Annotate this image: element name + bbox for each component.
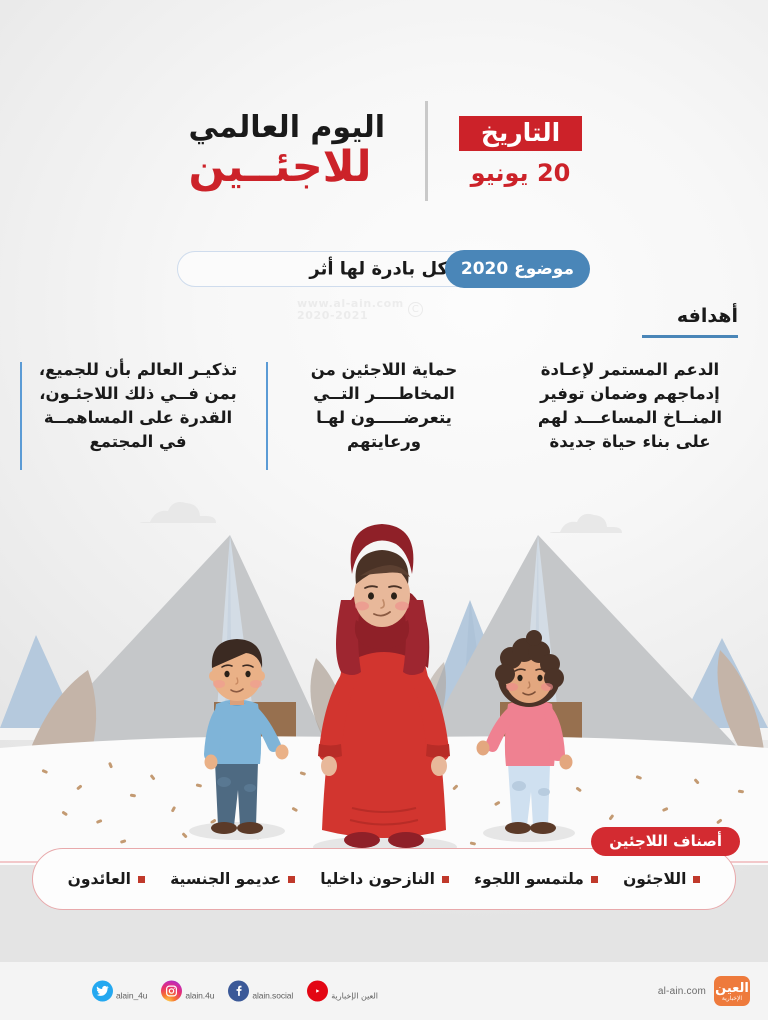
title-block: اليوم العالمي للاجئــين <box>173 111 421 192</box>
social-link-facebook[interactable]: alain.social <box>228 981 293 1002</box>
figure-mother <box>318 524 450 848</box>
facebook-icon <box>228 981 249 1002</box>
brand-logo-main: العين <box>715 982 749 995</box>
category-item[interactable]: العائدون <box>68 870 145 888</box>
header-divider <box>425 101 428 201</box>
watermark-line2: 2020-2021 <box>297 310 404 322</box>
social-label: alain.social <box>252 991 293 1002</box>
youtube-icon <box>307 981 328 1002</box>
category-item[interactable]: عديمو الجنسية <box>170 870 295 888</box>
theme-slogan: كل بادرة لها أثر <box>309 259 448 280</box>
category-item[interactable]: ملتمسو اللجوء <box>474 870 598 888</box>
goals-heading-wrap: أهدافه <box>498 305 738 338</box>
category-item[interactable]: اللاجئون <box>623 870 700 888</box>
copyright-icon: C <box>408 302 423 317</box>
brand-url: al-ain.com <box>658 986 706 997</box>
theme-year-badge: موضوع 2020 <box>445 250 590 288</box>
bullet-icon <box>442 876 449 883</box>
category-label: عديمو الجنسية <box>170 870 281 888</box>
bullet-icon <box>693 876 700 883</box>
al-ain-logo-icon: العين الإخبارية <box>714 976 750 1006</box>
subtitle-row: كل بادرة لها أثر موضوع 2020 <box>177 251 589 287</box>
watermark: C www.al-ain.com 2020-2021 <box>297 298 423 321</box>
header: التاريخ 20 يونيو اليوم العالمي للاجئــين <box>0 86 768 216</box>
social-label: alain_4u <box>116 991 147 1002</box>
goals-heading-underline <box>642 335 738 338</box>
goal-item-1: تذكيـر العالم بأن للجميع، بمن فــي ذلك ا… <box>22 358 254 454</box>
twitter-icon <box>92 981 113 1002</box>
category-label: اللاجئون <box>623 870 686 888</box>
category-label: النازحون داخليا <box>320 870 435 888</box>
bullet-icon <box>138 876 145 883</box>
page-title-line2: للاجئــين <box>189 143 421 191</box>
date-block: التاريخ 20 يونيو <box>446 116 596 187</box>
bullet-icon <box>591 876 598 883</box>
social-label: alain.4u <box>185 991 214 1002</box>
brand-block[interactable]: al-ain.com العين الإخبارية <box>658 976 750 1006</box>
social-link-youtube[interactable]: العين الإخبارية <box>307 981 378 1002</box>
goals-row: الدعم المستمر لإعـادة إدماجهم وضمان توفي… <box>22 358 746 454</box>
footer: alain_4u alain.4u alai <box>0 962 768 1020</box>
category-label: ملتمسو اللجوء <box>474 870 584 888</box>
brand-logo-sub: الإخبارية <box>722 996 742 1002</box>
social-links: alain_4u alain.4u alai <box>92 981 378 1002</box>
watermark-text: www.al-ain.com 2020-2021 <box>297 298 404 321</box>
date-value: 20 يونيو <box>446 160 596 186</box>
bullet-icon <box>288 876 295 883</box>
categories-pill: أصناف اللاجئين <box>591 827 740 856</box>
goal-item-3: الدعم المستمر لإعـادة إدماجهم وضمان توفي… <box>514 358 746 454</box>
date-label: التاريخ <box>459 116 582 152</box>
social-link-twitter[interactable]: alain_4u <box>92 981 147 1002</box>
infographic-page: التاريخ 20 يونيو اليوم العالمي للاجئــين… <box>0 0 768 1020</box>
instagram-icon <box>161 981 182 1002</box>
page-title-line1: اليوم العالمي <box>189 111 421 146</box>
categories-bar: اللاجئون ملتمسو اللجوء النازحون داخليا ع… <box>32 848 736 910</box>
refugee-family-illustration <box>0 490 768 865</box>
goals-heading: أهدافه <box>677 305 738 332</box>
social-link-instagram[interactable]: alain.4u <box>161 981 214 1002</box>
watermark-line1: www.al-ain.com <box>297 298 404 310</box>
category-item[interactable]: النازحون داخليا <box>320 870 449 888</box>
goal-item-2: حماية اللاجئين من المخاطــــر التــي يتع… <box>268 358 500 454</box>
social-label: العين الإخبارية <box>331 992 378 1002</box>
category-label: العائدون <box>68 870 131 888</box>
shadow-boy <box>189 822 285 840</box>
